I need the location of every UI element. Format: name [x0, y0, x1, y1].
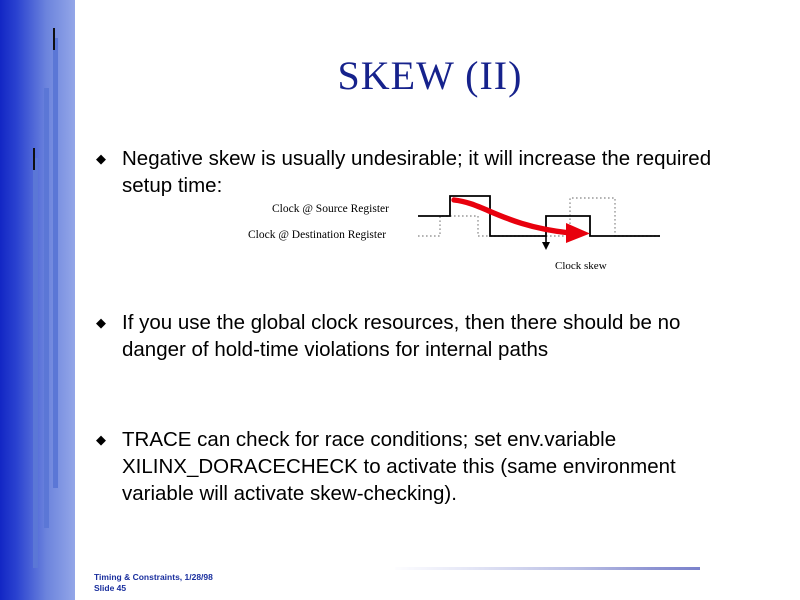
footer-block: Timing & Constraints, 1/28/98 Slide 45 — [94, 572, 213, 594]
sidebar-decoration — [0, 0, 75, 600]
sidebar-bar-tall-cap — [53, 28, 55, 50]
bullet-item-3: ◆ TRACE can check for race conditions; s… — [96, 426, 721, 507]
bullet-item-2-text: If you use the global clock resources, t… — [122, 309, 721, 363]
footer-divider — [395, 567, 700, 570]
diamond-bullet-icon: ◆ — [96, 309, 122, 336]
presentation-slide: SKEW (II) ◆ Negative skew is usually und… — [0, 0, 800, 600]
diamond-bullet-icon: ◆ — [96, 145, 122, 172]
skew-arrow-head — [566, 223, 590, 243]
slide-title: SKEW (II) — [110, 52, 750, 99]
footer-slide-number: Slide 45 — [94, 583, 213, 594]
clock-skew-label: Clock skew — [555, 260, 607, 272]
clock-skew-diagram: Clock @ Source Register Clock @ Destinat… — [240, 190, 660, 280]
sidebar-bar-short-cap — [33, 148, 35, 170]
bullet-item-3-text: TRACE can check for race conditions; set… — [122, 426, 721, 507]
sidebar-bar-tall — [53, 38, 58, 488]
bullet-item-2: ◆ If you use the global clock resources,… — [96, 309, 721, 363]
diamond-bullet-icon: ◆ — [96, 426, 122, 453]
skew-measure-arrowhead — [542, 242, 550, 250]
footer-deck-title: Timing & Constraints, 1/28/98 — [94, 572, 213, 583]
clock-source-label: Clock @ Source Register — [272, 203, 389, 215]
clock-destination-label: Clock @ Destination Register — [248, 229, 386, 241]
clock-waveform-graphic — [418, 190, 660, 256]
sidebar-bar-mid — [44, 88, 49, 528]
sidebar-bar-short — [33, 158, 38, 568]
